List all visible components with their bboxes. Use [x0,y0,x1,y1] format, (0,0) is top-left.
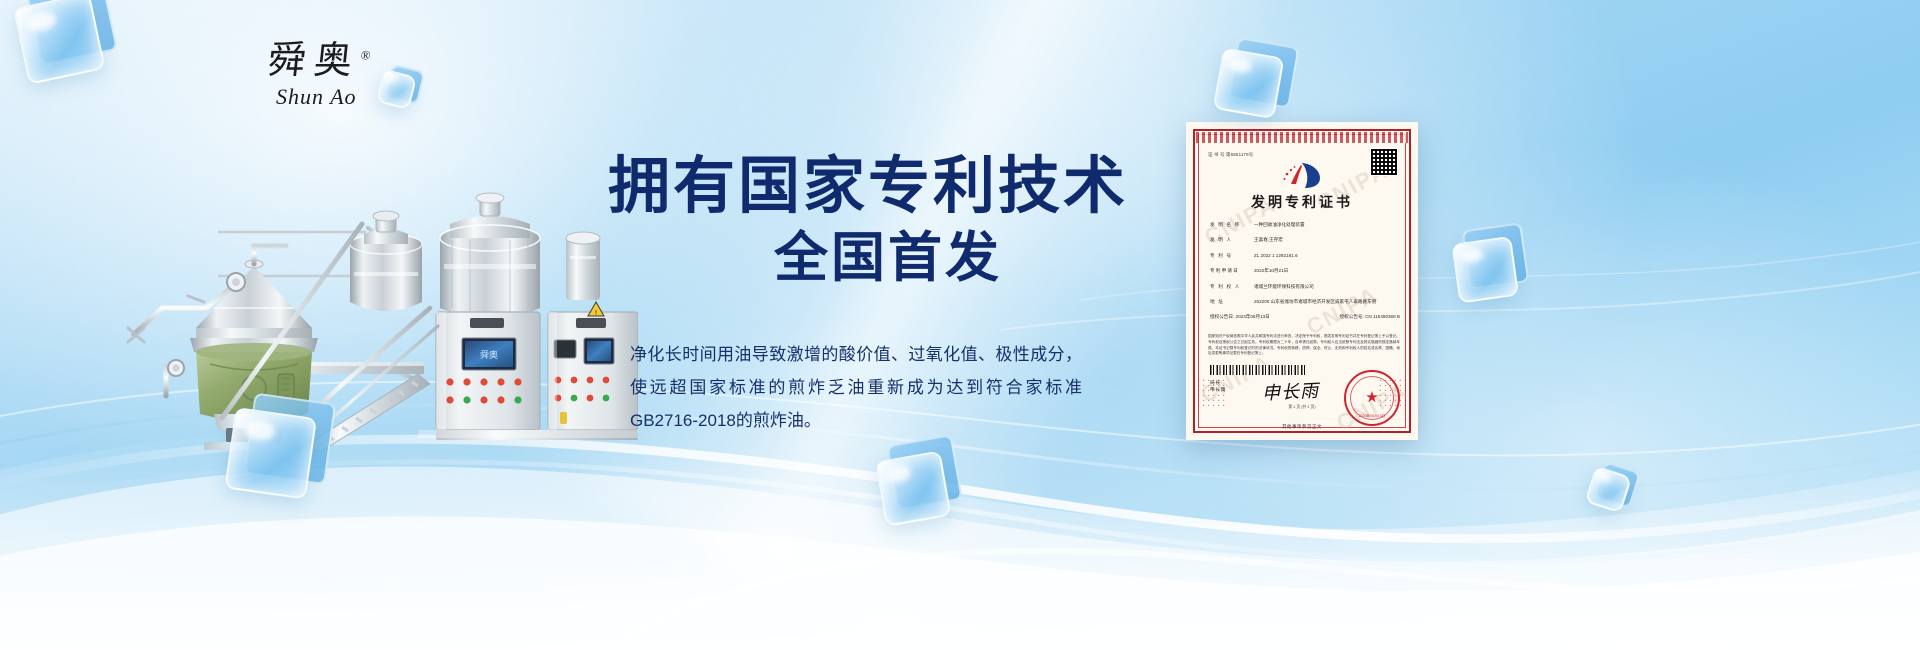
ice-cube-highlight [1597,471,1613,484]
ice-cube-face [875,450,951,526]
ice-cube-highlight [1228,56,1253,75]
ice-cube-side [1593,461,1641,509]
certificate-field-row: 发 明 人王喜春;王存宏 [1210,237,1400,244]
description-paragraph: 净化长时间用油导致激增的酸价值、过氧化值、极性成分，使远超国家标准的煎炸乏油重新… [630,338,1082,437]
certificate-footnote: 其他事项参见正文 [1186,424,1418,430]
certificate-field-row: 专 利 权 人诸城兰环能环保科技有限公司 [1210,284,1400,291]
certificate-signature: 申长雨 [1261,377,1319,406]
certificate-grant-row: 授权公告日: 2023年06月13日 授权公告号: CN 115490368 B [1210,314,1400,320]
ice-cube-decoration [875,451,947,523]
ice-cube-highlight [1460,247,1484,265]
svg-text:!: ! [595,310,597,317]
certificate-barcode [1210,365,1306,375]
seal-star-icon: ★ [1365,390,1378,405]
certificate-field-row: 地 址262200 山东省潍坊市诸城市经济开发区威家屯人泰路路东侧 [1210,299,1400,306]
ice-cube-face [1584,466,1632,514]
control-panel-right: ! [548,302,638,430]
logo-pinyin-text: Shun Ao [276,84,448,110]
certificate-field-row: 专 利 号ZL 2022 1 1292181.6 [1210,253,1400,260]
certificate-title: 发明专利证书 [1186,192,1418,212]
patent-certificate[interactable]: CNIPA CNIPA CNIPA CNIPA CNIPA 证 书 号 第685… [1186,122,1418,440]
ice-cube-highlight [885,463,912,483]
qr-code-icon [1370,148,1398,176]
promo-banner: 舜奥® Shun Ao [0,0,1920,650]
certificate-fields: 发 明 名 称一种回收油净化处理装置 发 明 人王喜春;王存宏 专 利 号ZL … [1210,222,1400,320]
ice-cube-side [25,0,118,66]
control-panel-left: 舜奥 [436,312,540,430]
oil-purification-machine-illustration: 舜奥 [118,112,638,452]
certificate-director-label: 局长申长雨 [1210,380,1226,395]
ice-cube-decoration [1451,236,1514,299]
svg-text:舜奥: 舜奥 [480,349,498,360]
certificate-top-ornament [1196,132,1408,143]
ice-cube-face [1451,236,1519,304]
certificate-page-number: 第 1 页 (共 2 页) [1186,405,1418,410]
certificate-serial-number: 证 书 号 第6851179号 [1208,152,1253,158]
ice-cube-face [1213,47,1285,119]
certificate-legal-text: 国家知识产权局依照中华人民共和国专利法进行审查，决定授予专利权，颁发发明专利证书… [1208,334,1400,357]
headline-primary: 拥有国家专利技术 [608,154,1168,219]
cnipa-emblem-icon [1279,160,1325,190]
brand-logo[interactable]: 舜奥® Shun Ao [268,42,448,122]
ice-cube-side [1228,37,1300,109]
certificate-field-row: 专利申请日2022年10月21日 [1210,268,1400,275]
headline-secondary: 全国首发 [608,229,1168,288]
ice-cube-face [13,0,106,85]
ice-cube-highlight [25,9,58,34]
ice-cube-decoration [1586,466,1629,509]
seal-date: 2023年06月13日 [1346,414,1398,419]
ice-cube-decoration [1213,47,1280,114]
headline-block: 拥有国家专利技术 全国首发 [608,154,1168,288]
registered-trademark-icon: ® [360,47,371,62]
official-seal-icon: ★ 2023年06月13日 [1344,370,1400,426]
ice-cube-side [1462,222,1530,290]
logo-chinese-text: 舜奥® [266,42,450,80]
ice-cube-side [886,434,962,510]
certificate-field-row: 发 明 名 称一种回收油净化处理装置 [1210,222,1400,229]
ice-cube-decoration [13,0,101,81]
